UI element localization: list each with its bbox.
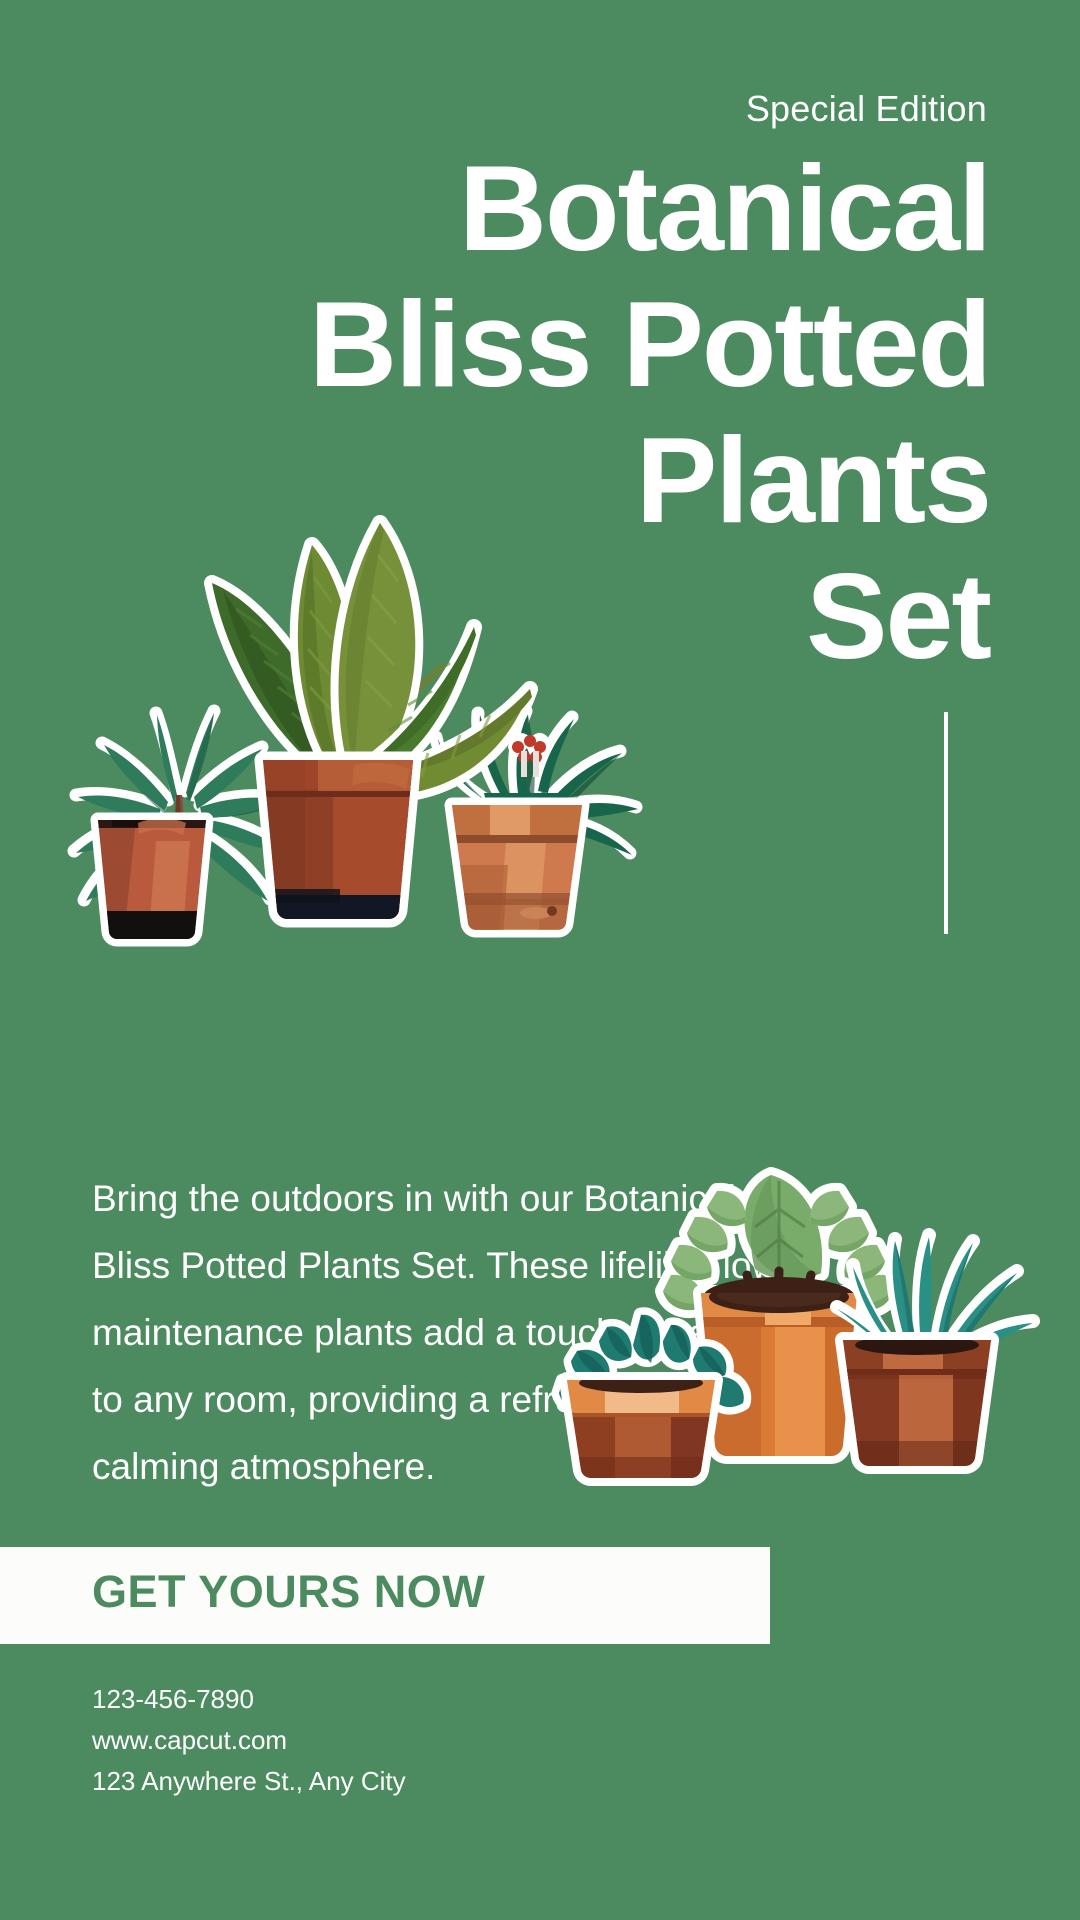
poster-canvas: Special Edition Botanical Bliss Potted P…	[0, 0, 1080, 1920]
footer-phone[interactable]: 123-456-7890	[92, 1679, 406, 1720]
main-plants-illustration	[60, 395, 660, 960]
footer-address: 123 Anywhere St., Any City	[92, 1761, 406, 1802]
footer-contact: 123-456-7890 www.capcut.com 123 Anywhere…	[92, 1679, 406, 1802]
vertical-rule-divider	[944, 712, 948, 934]
get-yours-now-button[interactable]: GET YOURS NOW	[92, 1566, 485, 1618]
special-edition-eyebrow: Special Edition	[746, 88, 987, 130]
footer-website[interactable]: www.capcut.com	[92, 1720, 406, 1761]
bottom-plants-illustration	[455, 1165, 1075, 1495]
headline-line-1: Botanical	[0, 140, 990, 276]
headline-line-2: Bliss Potted	[0, 276, 990, 412]
left-palm-plant	[74, 711, 286, 946]
